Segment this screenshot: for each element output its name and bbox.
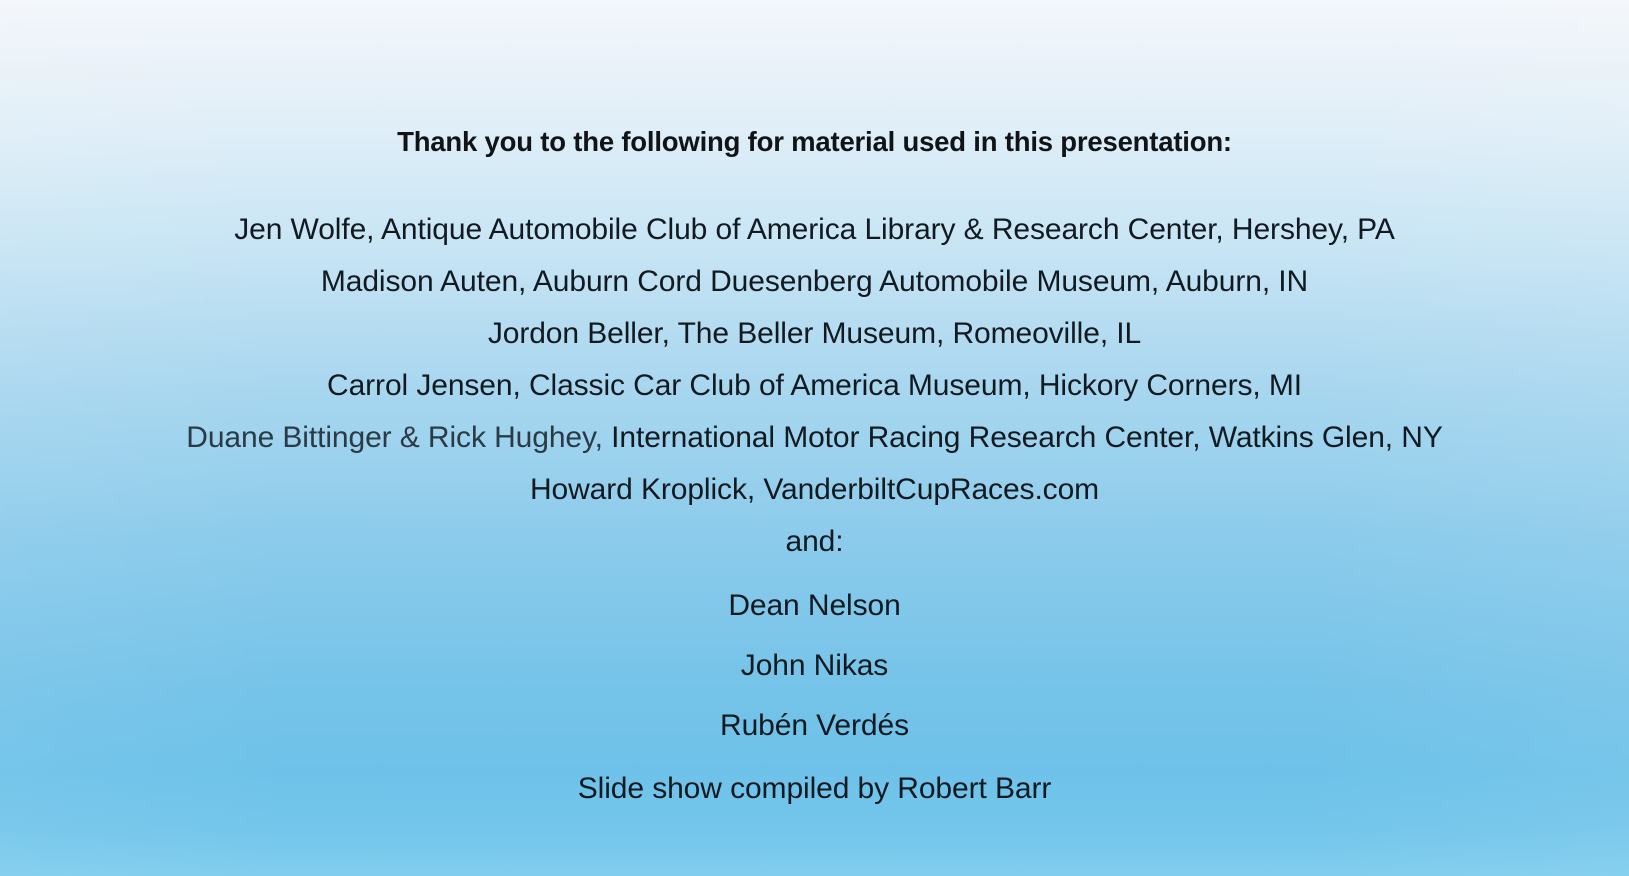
credit-line: Duane Bittinger & Rick Hughey, Internati… — [186, 412, 1443, 464]
slide-content: Thank you to the following for material … — [0, 0, 1629, 876]
credits-list: Jen Wolfe, Antique Automobile Club of Am… — [0, 204, 1629, 568]
credit-line: Carrol Jensen, Classic Car Club of Ameri… — [327, 360, 1302, 412]
credit-line-lead: Duane Bittinger & Rick Hughey, — [186, 421, 603, 454]
presentation-slide: Thank you to the following for material … — [0, 0, 1629, 876]
and-label: and: — [786, 516, 844, 568]
compiled-by-line: Slide show compiled by Robert Barr — [578, 759, 1051, 819]
credit-line: Jordon Beller, The Beller Museum, Romeov… — [488, 308, 1141, 360]
name-line: Rubén Verdés — [720, 696, 909, 756]
name-line: Dean Nelson — [728, 576, 900, 636]
credit-line: Howard Kroplick, VanderbiltCupRaces.com — [530, 464, 1099, 516]
credit-line-rest: International Motor Racing Research Cent… — [603, 421, 1443, 454]
slide-heading: Thank you to the following for material … — [397, 126, 1232, 158]
names-list: Dean Nelson John Nikas Rubén Verdés Slid… — [0, 576, 1629, 819]
credit-line: Jen Wolfe, Antique Automobile Club of Am… — [234, 204, 1395, 256]
name-line: John Nikas — [741, 636, 888, 696]
credit-line: Madison Auten, Auburn Cord Duesenberg Au… — [321, 256, 1308, 308]
